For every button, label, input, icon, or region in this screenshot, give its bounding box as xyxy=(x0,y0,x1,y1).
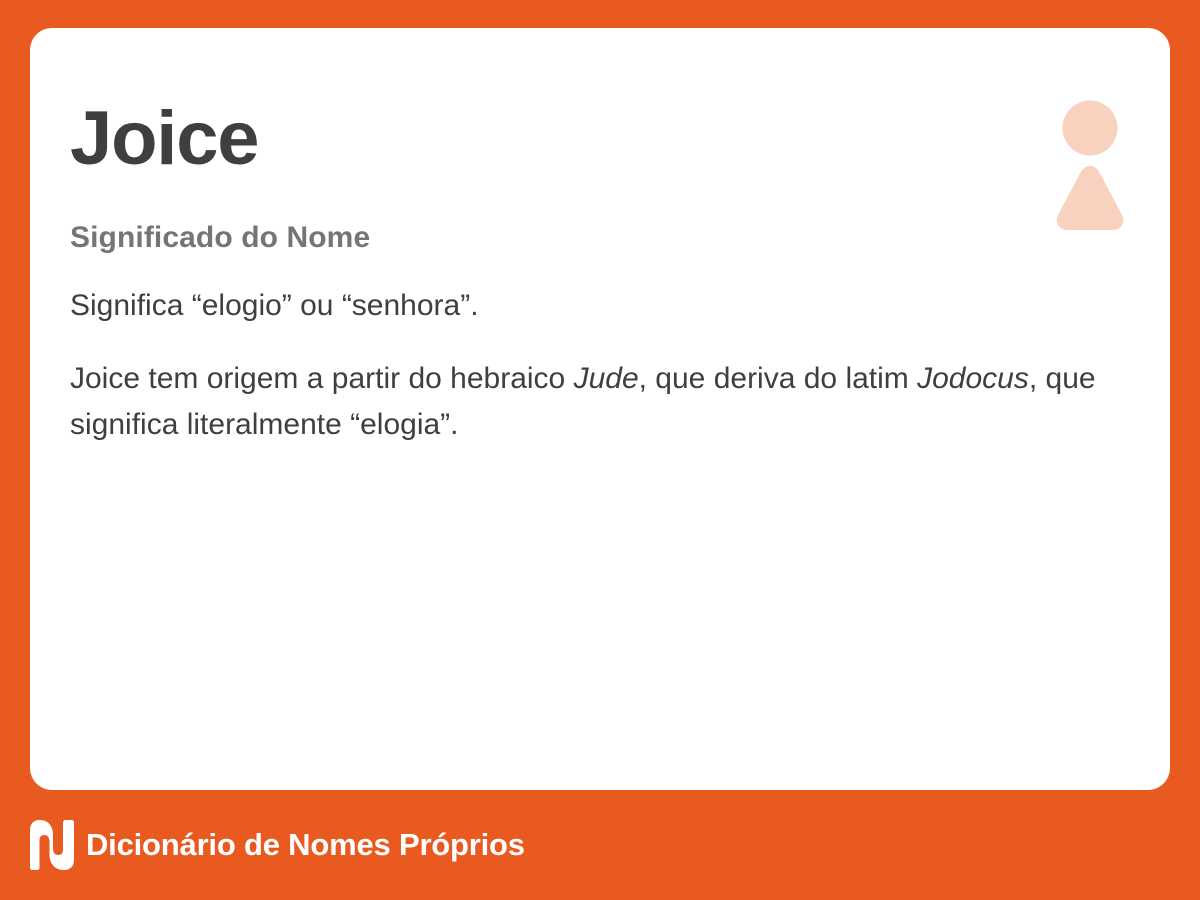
card-content: Joice Significado do Nome Significa “elo… xyxy=(70,100,1140,447)
meaning-paragraph-origin: Joice tem origem a partir do hebraico Ju… xyxy=(70,356,1125,447)
name-meaning-card-page: Joice Significado do Nome Significa “elo… xyxy=(0,0,1200,900)
n-monogram-logo-icon xyxy=(28,820,74,870)
name-info-card: Joice Significado do Nome Significa “elo… xyxy=(30,28,1170,790)
brand-name-label: Dicionário de Nomes Próprios xyxy=(86,827,525,863)
page-title: Joice xyxy=(70,100,1140,178)
section-label-meaning: Significado do Nome xyxy=(70,221,1140,255)
site-footer: Dicionário de Nomes Próprios xyxy=(0,790,1200,900)
meaning-paragraph-short: Significa “elogio” ou “senhora”. xyxy=(70,283,1125,329)
